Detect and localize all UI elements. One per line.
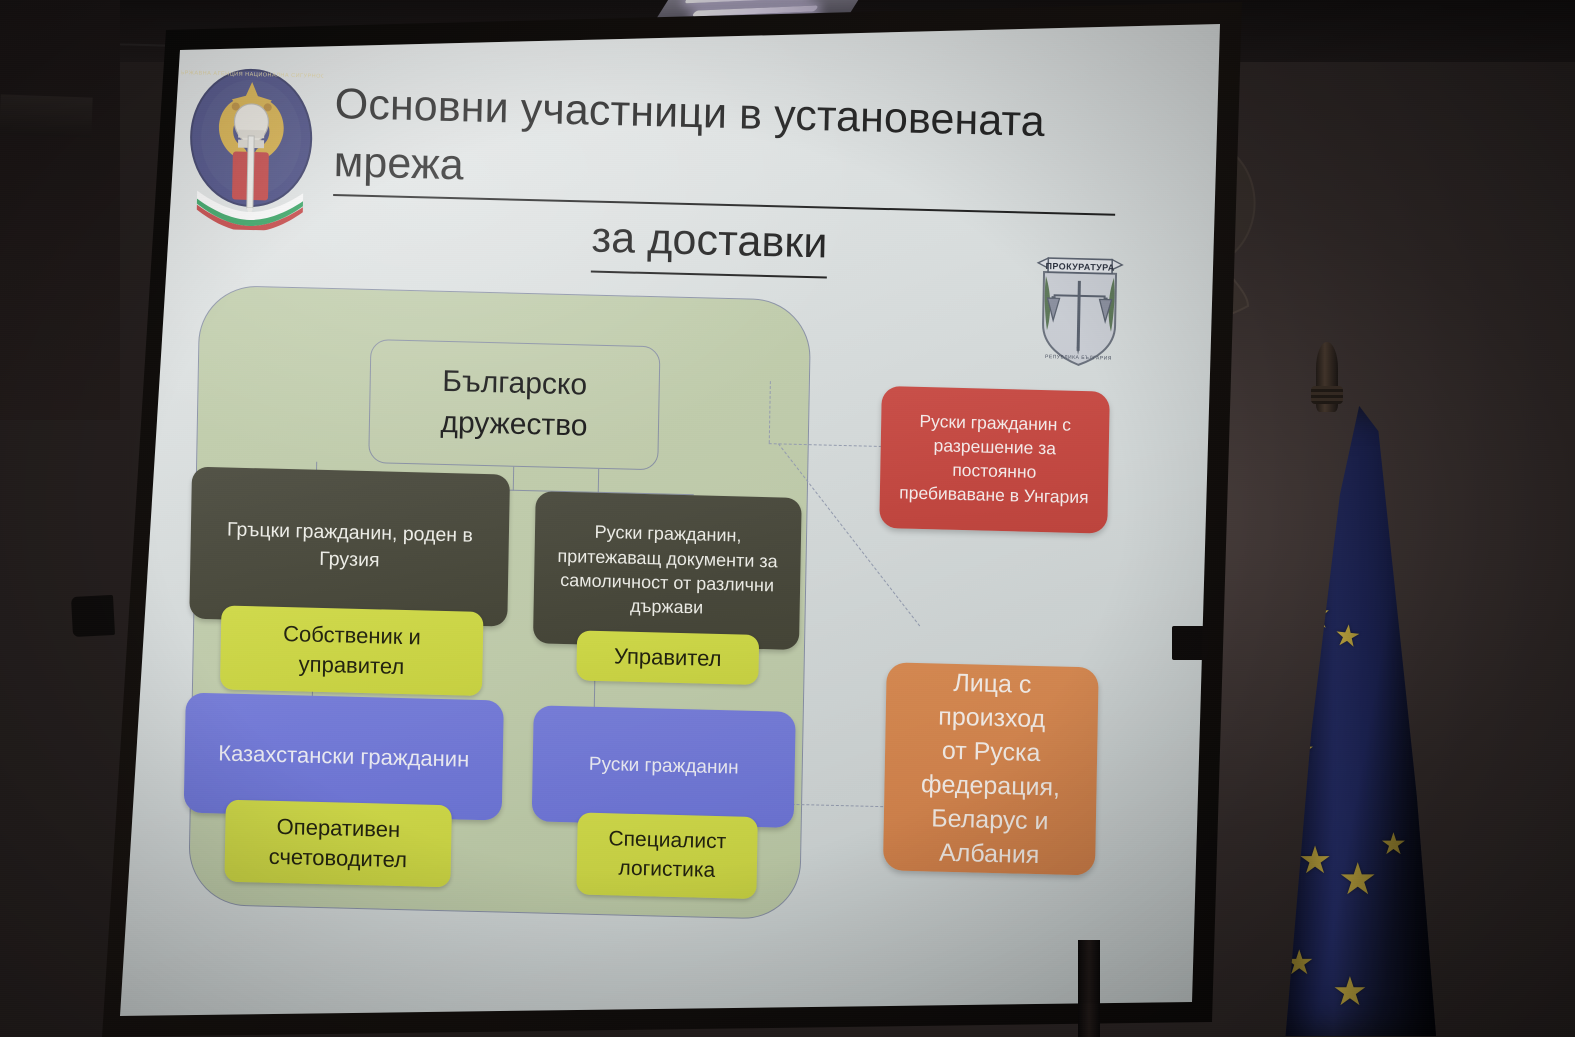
node-kazakh-citizen-label: Казахстански гражданин: [218, 738, 470, 774]
prokuratura-label: ПРОКУРАТУРА: [1045, 261, 1114, 273]
node-russian-citizen-role: Специалист логистика: [576, 812, 758, 899]
slide-title-line2: за доставки: [591, 210, 828, 279]
node-russian-citizen: Руски гражданин: [532, 705, 796, 828]
node-origin-line2: от Руска: [942, 734, 1041, 770]
node-russian-multi-documents-role: Управител: [576, 630, 759, 685]
svg-text:РЕПУБЛИКА БЪЛГАРИЯ: РЕПУБЛИКА БЪЛГАРИЯ: [1045, 354, 1112, 362]
flagpole-finial-icon: [1316, 342, 1338, 412]
prokuratura-bulgaria-logo-icon: ПРОКУРАТУРА РЕПУБЛИКА БЪЛГАРИЯ: [1032, 254, 1126, 368]
node-company-line1: Българско: [442, 362, 588, 406]
photo-scene: И СИЛАТА ★ ★ ★ ★ ★ ★ ★ ★: [0, 0, 1575, 1037]
presentation-slide: ДЪРЖАВНА АГЕНЦИЯ НАЦИОНАЛНА СИГУРНОСТ Ос…: [159, 36, 1136, 1000]
node-origin-line1: Лица с произход: [897, 664, 1086, 737]
node-russian-docs-role-label: Управител: [614, 641, 722, 674]
node-greek-citizen-role: Собственик и управител: [220, 605, 484, 696]
node-origin-line3: федерация,: [921, 767, 1061, 805]
node-russian-hungary-residence: Руски гражданин с разрешение за постоянн…: [879, 386, 1110, 534]
node-greek-role-line1: Собственик и: [283, 619, 421, 652]
node-kazakh-citizen-role: Оперативен счетоводител: [224, 800, 452, 888]
node-russian-citizen-label: Руски гражданин: [589, 752, 739, 782]
node-greek-role-line2: управител: [298, 649, 404, 682]
node-russian-multi-documents: Руски гражданин, притежаващ документи за…: [533, 491, 802, 650]
node-company-line2: дружество: [440, 403, 588, 448]
node-hungary-line3: пребиваване в Унгария: [899, 481, 1089, 510]
node-russian-role-line1: Специалист: [608, 826, 726, 858]
node-kazakh-role-line2: счетоводител: [268, 842, 407, 875]
slide-title-line1: Основни участници в установената мрежа: [333, 76, 1117, 216]
european-union-flag: ★ ★ ★ ★ ★ ★ ★ ★: [1258, 340, 1488, 1037]
node-hungary-line2: разрешение за постоянно: [892, 433, 1097, 486]
eu-flag-cloth: ★ ★ ★ ★ ★ ★ ★ ★: [1276, 406, 1436, 1036]
slide-title: Основни участници в установената мрежа з…: [324, 76, 1118, 286]
dans-bulgaria-emblem-icon: ДЪРЖАВНА АГЕНЦИЯ НАЦИОНАЛНА СИГУРНОСТ: [178, 58, 323, 232]
node-russian-role-line2: логистика: [618, 855, 715, 886]
node-greek-citizen-label: Гръцки гражданин, роден в Грузия: [202, 516, 497, 576]
node-greek-citizen: Гръцки гражданин, роден в Грузия: [189, 467, 510, 627]
node-persons-of-origin: Лица с произход от Руска федерация, Бела…: [883, 662, 1099, 875]
node-kazakh-role-line1: Оперативен: [276, 812, 400, 845]
screen-mount-bracket-right: [1172, 626, 1208, 660]
node-bulgarian-company: Българско дружество: [368, 339, 660, 470]
wall-panel-left: [0, 0, 120, 420]
ceiling-duct: [0, 94, 93, 137]
node-origin-line4: Беларус и Албания: [895, 800, 1084, 873]
screen-mount-bracket-left: [71, 595, 115, 637]
node-russian-multi-documents-label: Руски гражданин, притежаващ документи за…: [545, 519, 789, 623]
